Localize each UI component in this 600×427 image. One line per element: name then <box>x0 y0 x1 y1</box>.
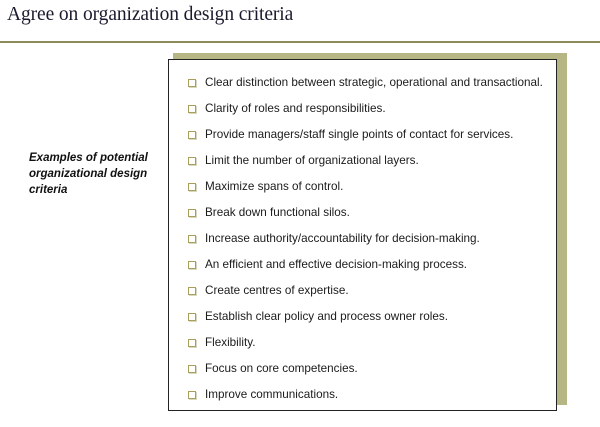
list-item-label: Focus on core competencies. <box>205 362 358 376</box>
list-item-label: Maximize spans of control. <box>205 180 343 194</box>
hollow-square-bullet-icon <box>188 157 196 165</box>
list-item-label: Establish clear policy and process owner… <box>205 310 448 324</box>
list-item-label: Create centres of expertise. <box>205 284 349 298</box>
list-item[interactable]: Provide managers/staff single points of … <box>169 122 556 148</box>
hollow-square-bullet-icon <box>188 339 196 347</box>
list-item-label: Clarity of roles and responsibilities. <box>205 102 386 116</box>
criteria-list: Clear distinction between strategic, ope… <box>169 70 556 408</box>
list-item-label: An efficient and effective decision-maki… <box>205 258 467 272</box>
hollow-square-bullet-icon <box>188 209 196 217</box>
hollow-square-bullet-icon <box>188 261 196 269</box>
list-item[interactable]: Establish clear policy and process owner… <box>169 304 556 330</box>
list-item[interactable]: Flexibility. <box>169 330 556 356</box>
list-item[interactable]: Maximize spans of control. <box>169 174 556 200</box>
list-item-label: Break down functional silos. <box>205 206 350 220</box>
hollow-square-bullet-icon <box>188 391 196 399</box>
list-item[interactable]: Clarity of roles and responsibilities. <box>169 96 556 122</box>
hollow-square-bullet-icon <box>188 313 196 321</box>
list-item-label: Limit the number of organizational layer… <box>205 154 419 168</box>
list-item[interactable]: An efficient and effective decision-maki… <box>169 252 556 278</box>
list-item-label: Provide managers/staff single points of … <box>205 128 513 142</box>
list-item[interactable]: Focus on core competencies. <box>169 356 556 382</box>
title-divider <box>0 41 600 43</box>
list-item[interactable]: Limit the number of organizational layer… <box>169 148 556 174</box>
hollow-square-bullet-icon <box>188 287 196 295</box>
criteria-panel-box: Clear distinction between strategic, ope… <box>168 59 557 411</box>
list-item-label: Improve communications. <box>205 388 338 402</box>
list-item[interactable]: Break down functional silos. <box>169 200 556 226</box>
hollow-square-bullet-icon <box>188 79 196 87</box>
hollow-square-bullet-icon <box>188 105 196 113</box>
page-title: Agree on organization design criteria <box>7 3 293 27</box>
list-item-label: Flexibility. <box>205 336 255 350</box>
list-item[interactable]: Create centres of expertise. <box>169 278 556 304</box>
hollow-square-bullet-icon <box>188 365 196 373</box>
side-caption-label: Examples of potential organizational des… <box>29 150 169 198</box>
list-item-label: Clear distinction between strategic, ope… <box>205 76 543 90</box>
criteria-panel: Clear distinction between strategic, ope… <box>168 53 567 412</box>
hollow-square-bullet-icon <box>188 183 196 191</box>
list-item[interactable]: Increase authority/accountability for de… <box>169 226 556 252</box>
list-item[interactable]: Improve communications. <box>169 382 556 408</box>
hollow-square-bullet-icon <box>188 131 196 139</box>
hollow-square-bullet-icon <box>188 235 196 243</box>
list-item-label: Increase authority/accountability for de… <box>205 232 480 246</box>
list-item[interactable]: Clear distinction between strategic, ope… <box>169 70 556 96</box>
